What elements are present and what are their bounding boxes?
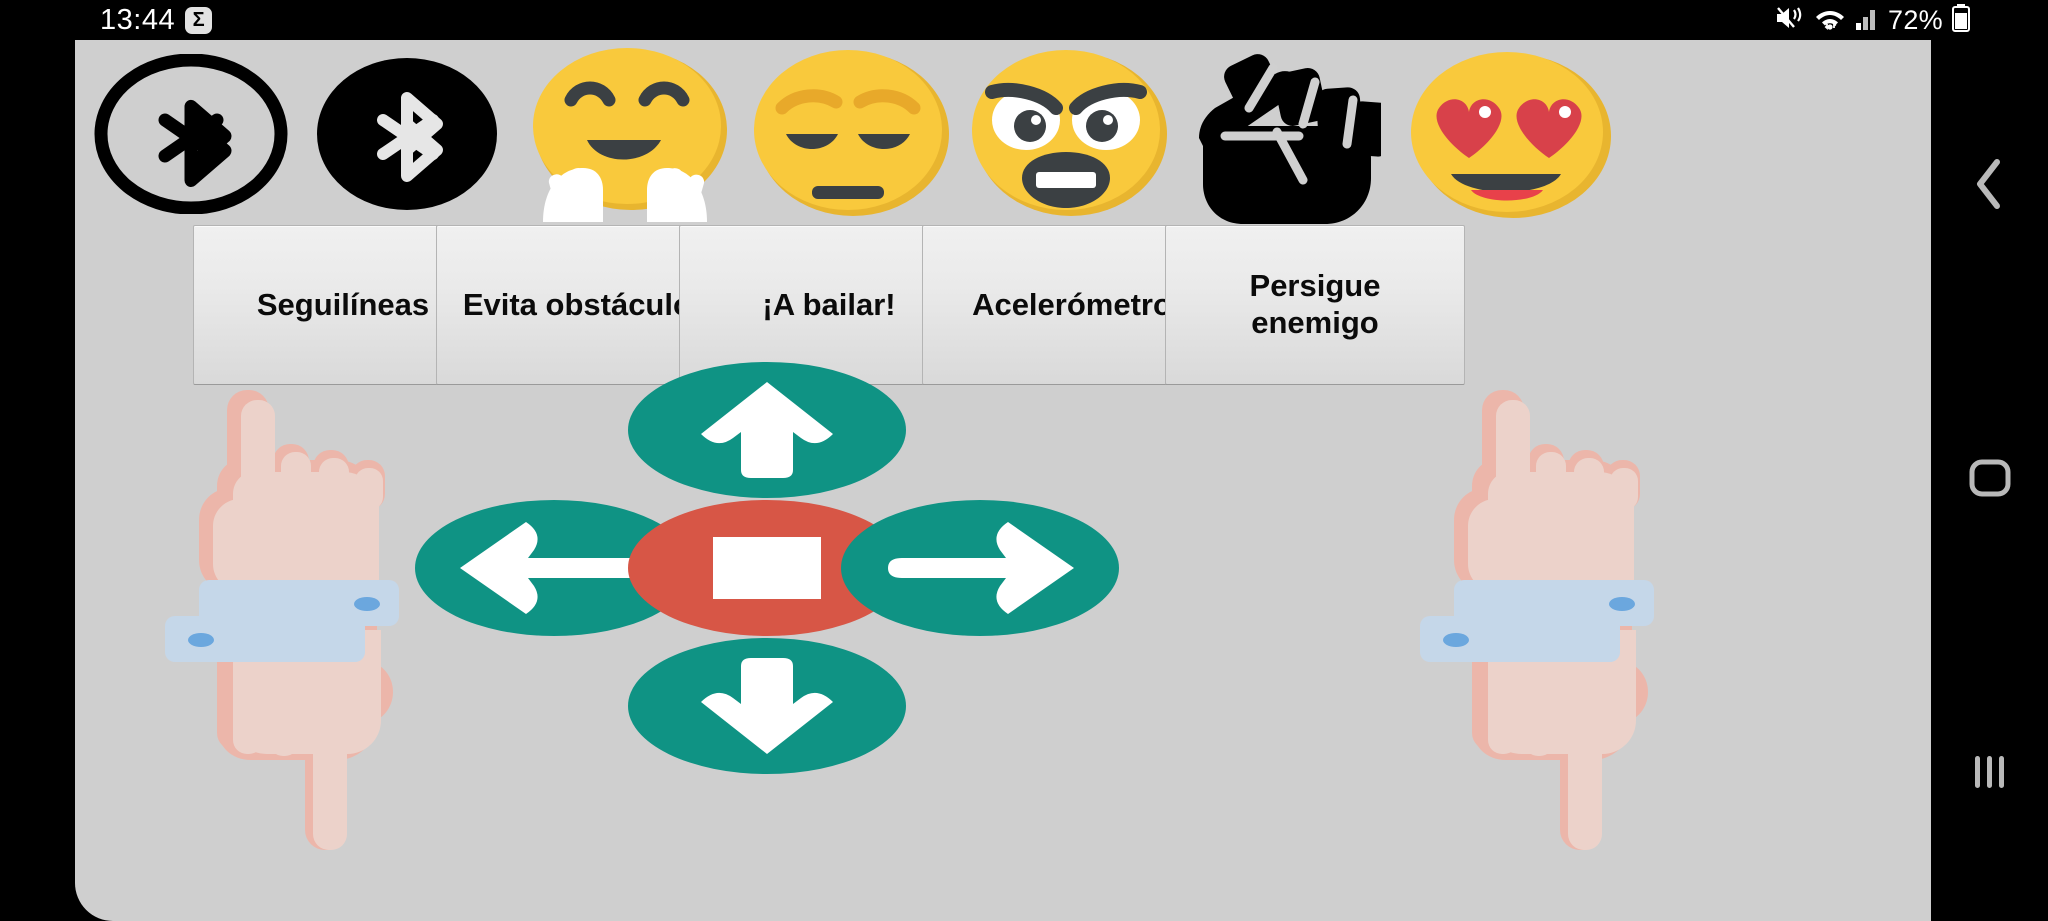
arrow-right-icon — [882, 518, 1078, 618]
emoji-fist-button[interactable] — [1165, 46, 1397, 222]
emoji-angry-button[interactable] — [951, 46, 1183, 222]
emoji-heart-eyes-button[interactable] — [1393, 46, 1625, 222]
back-chevron-icon — [1973, 157, 2007, 216]
nav-recents-button[interactable] — [1931, 719, 2048, 829]
mode-button-row: Seguilíneas Evita obstáculos ¡A bailar! … — [75, 225, 1931, 385]
emoji-action-row — [75, 40, 1931, 222]
arrow-down-icon — [697, 654, 837, 758]
dpad-down-button[interactable] — [628, 638, 906, 774]
mode-button-persigue-enemigo[interactable]: Persigue enemigo — [1165, 225, 1465, 385]
mute-vibrate-icon — [1775, 5, 1805, 36]
signal-bars-icon — [1855, 5, 1879, 36]
bluetooth-connect-button[interactable] — [75, 46, 307, 222]
dpad-right-button[interactable] — [841, 500, 1119, 636]
heart-eyes-emoji — [1403, 46, 1615, 222]
battery-percent-label: 72% — [1888, 5, 1943, 36]
stop-square-icon — [713, 537, 821, 599]
sigma-app-badge-icon: Σ — [185, 7, 212, 34]
home-square-icon — [1968, 458, 2012, 503]
arrow-up-icon — [697, 378, 837, 482]
bluetooth-filled-icon — [309, 54, 505, 214]
wifi-icon — [1814, 5, 1846, 36]
angry-face-emoji — [964, 46, 1170, 222]
emoji-pensive-button[interactable] — [733, 46, 965, 222]
dpad-control — [75, 392, 1931, 812]
emoji-hugging-button[interactable] — [515, 46, 747, 222]
bluetooth-outline-icon — [93, 54, 289, 214]
pensive-face-emoji — [746, 46, 952, 222]
nav-back-button[interactable] — [1931, 132, 2048, 242]
raised-fist-emoji — [1181, 44, 1381, 224]
recents-bars-icon — [1970, 753, 2010, 796]
status-bar: 13:44 Σ — [0, 0, 2048, 40]
phone-screen: 13:44 Σ — [0, 0, 2048, 921]
android-navigation-bar — [1931, 40, 2048, 921]
arrow-left-icon — [456, 518, 652, 618]
dpad-up-button[interactable] — [628, 362, 906, 498]
app-content: Seguilíneas Evita obstáculos ¡A bailar! … — [75, 40, 1931, 921]
hugging-face-emoji — [525, 46, 737, 222]
status-bar-right: 72% — [1775, 0, 1970, 40]
nav-home-button[interactable] — [1931, 425, 2048, 535]
status-bar-left: 13:44 Σ — [100, 0, 212, 40]
status-clock: 13:44 — [100, 4, 175, 37]
bluetooth-disconnect-button[interactable] — [291, 46, 523, 222]
battery-icon — [1952, 4, 1970, 37]
